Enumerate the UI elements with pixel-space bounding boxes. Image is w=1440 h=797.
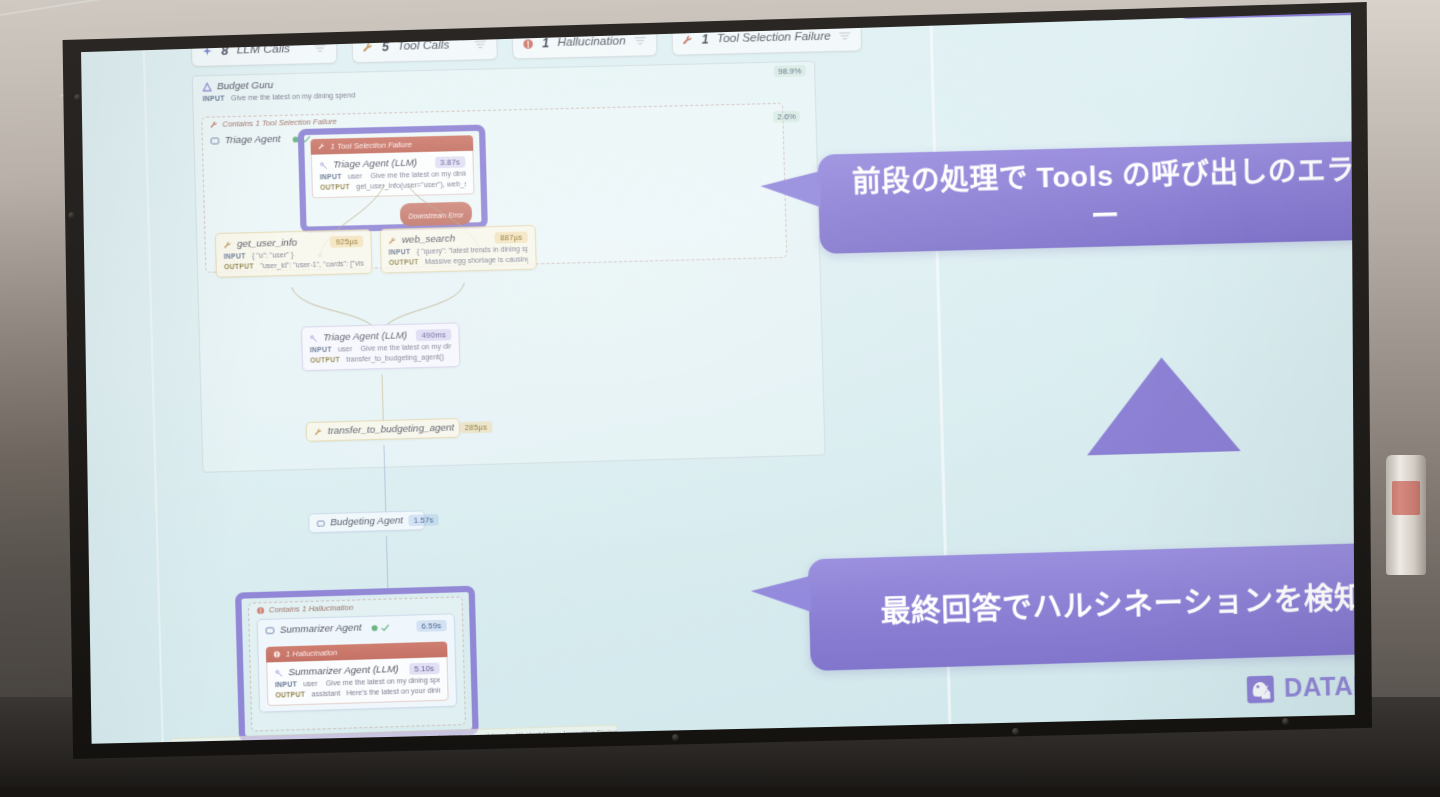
purple-triangle-shape xyxy=(1085,355,1241,455)
wrench-error-icon xyxy=(682,34,694,46)
input-tag: INPUT xyxy=(389,249,411,257)
wrench-icon xyxy=(388,236,397,245)
filter-icon[interactable] xyxy=(474,40,486,50)
summarizer-llm-title: Summarizer Agent (LLM) xyxy=(288,664,399,679)
llm-icon xyxy=(275,669,284,678)
input-role: user xyxy=(348,173,362,181)
tool-title-row: web_search 887µs xyxy=(388,231,528,246)
budgeting-agent-name: Budgeting Agent xyxy=(330,515,403,528)
output-tag: OUTPUT xyxy=(310,357,340,365)
triage-llm-2-duration: 490ms xyxy=(416,329,451,341)
tool-duration: 925µs xyxy=(330,236,363,248)
summarizer-agent-card[interactable]: Summarizer Agent 6.59s 1 Hallucination xyxy=(257,613,458,712)
frame-stud xyxy=(672,734,679,741)
triage-llm-second-card[interactable]: Triage Agent (LLM) 490ms INPUT user Give… xyxy=(301,322,461,371)
output-tag: OUTPUT xyxy=(389,259,419,267)
triage-llm-input-row: INPUT user Give me the latest on my dini… xyxy=(320,171,466,182)
wrench-icon xyxy=(223,240,232,249)
budgeting-agent-card[interactable]: Budgeting Agent 1.57s xyxy=(308,510,425,533)
chip-count: 1 xyxy=(702,32,709,47)
input-text: Give me the latest on my dining spend xyxy=(370,171,465,181)
hallucination-card[interactable]: 1 Hallucination Summarizer Agent (LLM) 5… xyxy=(266,641,449,706)
eval-dot-check-icon xyxy=(371,623,392,632)
transfer-tool-duration: 285µs xyxy=(459,421,492,433)
output-text: Massive egg shortage is causing prices t… xyxy=(425,256,529,266)
filter-icon[interactable] xyxy=(634,36,646,46)
transfer-tool-name: transfer_to_budgeting_agent xyxy=(328,422,455,437)
root-span-percent: 98.9% xyxy=(774,65,806,77)
budgeting-agent-duration: 1.57s xyxy=(408,514,439,526)
wrench-icon xyxy=(314,427,323,436)
input-role: user xyxy=(338,346,352,354)
output-tag: OUTPUT xyxy=(224,263,254,271)
output-text: "user_id": "user-1", "cards": ["visa"], … xyxy=(260,260,364,270)
frame-stud xyxy=(68,212,75,219)
summarizer-llm-body: Summarizer Agent (LLM) 5.10s INPUT user … xyxy=(266,657,449,706)
triage-group-percent: 2.6% xyxy=(773,111,800,123)
triage-llm-title: Triage Agent (LLM) xyxy=(333,157,417,170)
projected-slide-area: Issue 8 LLM Calls 5 Tool Calls xyxy=(52,2,1372,762)
summarizer-llm-output-row: OUTPUT assistant Here's the latest on yo… xyxy=(275,687,440,699)
budgeting-agent-row: Budgeting Agent 1.57s xyxy=(317,515,417,529)
tool-card-web-search[interactable]: web_search 887µs INPUT { "query": "lates… xyxy=(380,225,537,274)
input-tag: INPUT xyxy=(224,253,246,261)
tool-output-row: OUTPUT Massive egg shortage is causing p… xyxy=(389,256,529,267)
summarizer-agent-name: Summarizer Agent xyxy=(280,622,362,636)
triage-llm-2-title-row: Triage Agent (LLM) 490ms xyxy=(309,329,451,344)
filter-icon[interactable] xyxy=(314,44,326,54)
transfer-tool-row: transfer_to_budgeting_agent 285µs xyxy=(314,422,452,437)
summarizer-error-banner-text: 1 Hallucination xyxy=(286,648,338,659)
frame-stud xyxy=(1012,728,1019,735)
triage-llm-title-row: Triage Agent (LLM) 3.87s xyxy=(319,156,465,171)
input-tag: INPUT xyxy=(203,95,225,103)
agent-icon xyxy=(265,626,275,636)
input-tag: INPUT xyxy=(320,174,342,182)
callout-tools-error-text: 前段の処理で Tools の呼び出しのエラー xyxy=(840,151,1367,244)
triage-llm-duration: 3.87s xyxy=(435,156,466,168)
agent-icon xyxy=(210,136,220,146)
warning-icon xyxy=(273,651,281,658)
root-span-name: Budget Guru xyxy=(217,80,274,93)
frame-stud xyxy=(74,94,81,101)
wrench-error-icon xyxy=(210,120,219,129)
tool-input-row: INPUT { "query": "latest trends in dinin… xyxy=(389,246,529,257)
tool-input-row: INPUT { "u": "user" } xyxy=(224,250,364,261)
callout-tail xyxy=(750,576,811,614)
slide: Issue 8 LLM Calls 5 Tool Calls xyxy=(14,0,1401,797)
trace-flow-canvas[interactable]: Budget Guru INPUT Give me the latest on … xyxy=(192,59,896,762)
summarizer-llm-duration: 5.10s xyxy=(409,662,440,674)
tool-name: get_user_info xyxy=(237,237,297,250)
llm-icon xyxy=(309,334,318,343)
input-role: user xyxy=(303,681,317,689)
agent-icon xyxy=(202,82,212,92)
tool-title-row: get_user_info 925µs xyxy=(223,236,363,251)
triage-llm-2-title: Triage Agent (LLM) xyxy=(323,330,407,344)
chip-label: Tool Selection Failure xyxy=(717,30,831,45)
tool-card-get-user-info[interactable]: get_user_info 925µs INPUT { "u": "user" … xyxy=(215,229,373,278)
warning-icon xyxy=(256,606,265,615)
tool-name: web_search xyxy=(402,233,456,246)
callout-hallucination: 最終回答でハルシネーションを検知 xyxy=(808,541,1436,671)
summarizer-llm-title-row: Summarizer Agent (LLM) 5.10s xyxy=(275,662,440,678)
input-text: { "query": "latest trends in dining spen… xyxy=(417,246,528,256)
summarizer-agent-row: Summarizer Agent 6.59s xyxy=(265,620,447,637)
callout-hallucination-text: 最終回答でハルシネーションを検知 xyxy=(880,578,1364,634)
output-tag: OUTPUT xyxy=(275,691,305,699)
input-text: Give me the latest on my dining spend xyxy=(326,677,440,688)
triage-llm-2-input-row: INPUT user Give me the latest on my dini… xyxy=(310,343,452,354)
triage-error-banner-text: 1 Tool Selection Failure xyxy=(330,140,412,151)
input-text: Give me the latest on my dining spend xyxy=(360,343,451,353)
chip-label: Hallucination xyxy=(557,35,626,49)
output-text: transfer_to_budgeting_agent() xyxy=(346,354,444,364)
ceiling-seam xyxy=(0,0,208,16)
input-tag: INPUT xyxy=(275,681,297,689)
llm-icon xyxy=(319,161,328,170)
tool-output-row: OUTPUT "user_id": "user-1", "cards": ["v… xyxy=(224,260,364,271)
frame-stud xyxy=(1282,718,1289,725)
datadog-dog-icon xyxy=(1245,673,1276,705)
callout-tail xyxy=(760,171,821,209)
fire-extinguisher xyxy=(1386,455,1426,575)
triage-agent-name: Triage Agent xyxy=(225,134,281,147)
output-text: Here's the latest on your dining spend, … xyxy=(346,687,440,697)
agent-icon xyxy=(317,519,326,528)
output-role: assistant xyxy=(311,690,340,698)
chip-count: 1 xyxy=(542,36,549,51)
tool-duration: 887µs xyxy=(495,231,528,243)
callout-tools-error: 前段の処理で Tools の呼び出しのエラー xyxy=(818,141,1391,254)
trace-edge xyxy=(386,536,389,594)
warning-icon xyxy=(522,38,534,50)
triage-llm-2-output-row: OUTPUT transfer_to_budgeting_agent() xyxy=(310,354,452,365)
summarizer-agent-duration: 6.59s xyxy=(416,620,447,632)
filter-icon[interactable] xyxy=(839,31,851,41)
wrench-error-icon xyxy=(318,143,325,150)
input-text: { "u": "user" } xyxy=(252,252,294,260)
input-tag: INPUT xyxy=(310,347,332,355)
